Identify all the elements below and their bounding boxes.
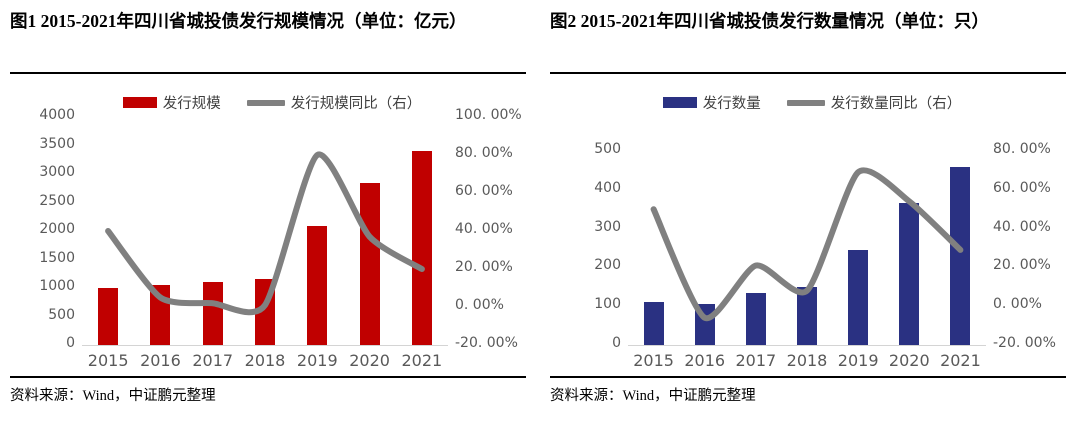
figure-1-chart: 发行规模 发行规模同比（右） 0500100015002000250030003… — [10, 78, 534, 374]
figure-2-bottom-rule — [550, 376, 1066, 378]
line-series-layer — [10, 78, 534, 374]
figure-2-chart: 发行数量 发行数量同比（右） 0100200300400500-20. 00%0… — [550, 78, 1074, 374]
figure-1-title: 图1 2015-2021年四川省城投债发行规模情况（单位：亿元） — [10, 0, 522, 35]
figure-2-top-rule — [550, 72, 1066, 74]
figure-1-plot-area: 05001000150020002500300035004000-20. 00%… — [10, 78, 534, 374]
figure-1-bottom-rule — [10, 376, 526, 378]
figure-1-source: 资料来源：Wind，中证鹏元整理 — [10, 384, 216, 405]
figure-2-source: 资料来源：Wind，中证鹏元整理 — [550, 384, 756, 405]
line-series-path — [654, 170, 961, 318]
figure-2-plot-area: 0100200300400500-20. 00%0. 00%20. 00%40.… — [550, 78, 1074, 374]
figures-page: 图1 2015-2021年四川省城投债发行规模情况（单位：亿元） 发行规模 发行… — [0, 0, 1080, 433]
figure-1-panel: 图1 2015-2021年四川省城投债发行规模情况（单位：亿元） 发行规模 发行… — [0, 0, 540, 433]
line-series-path — [108, 154, 422, 312]
line-series-layer — [550, 78, 1074, 374]
figure-1-top-rule — [10, 72, 526, 74]
figure-2-title: 图2 2015-2021年四川省城投债发行数量情况（单位：只） — [550, 0, 1062, 35]
figure-2-panel: 图2 2015-2021年四川省城投债发行数量情况（单位：只） 发行数量 发行数… — [540, 0, 1080, 433]
